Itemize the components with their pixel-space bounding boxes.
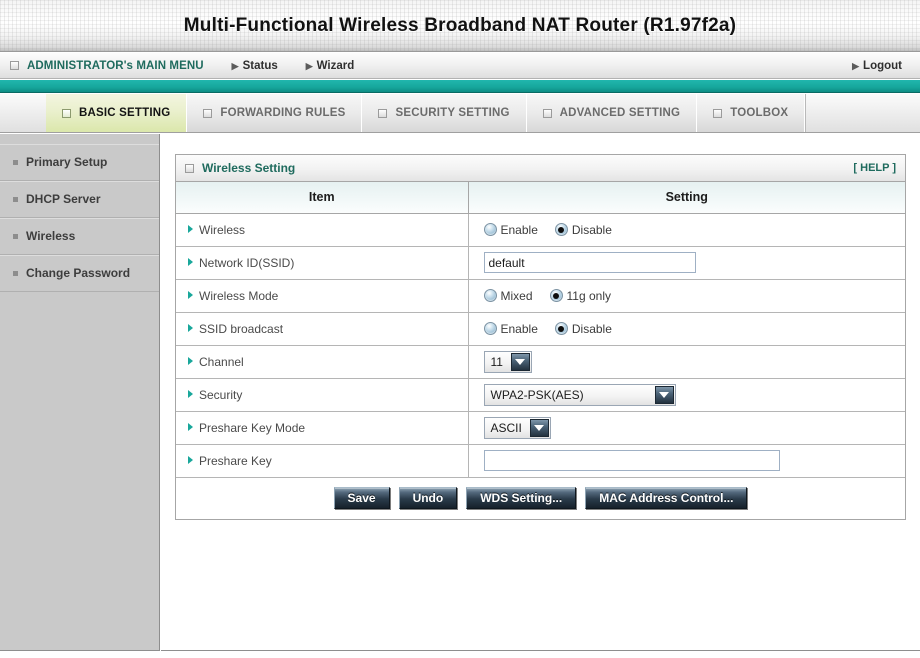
nav-link-wizard[interactable]: ▶Wizard: [306, 60, 355, 72]
admin-menu-label: ADMINISTRATOR's MAIN MENU: [27, 60, 204, 72]
sidebar-item-label: Wireless: [26, 229, 75, 243]
table-row: Network ID(SSID): [176, 246, 905, 279]
wireless-setting-panel: Wireless Setting [ HELP ] Item Setting W…: [175, 154, 906, 520]
triangle-right-icon: [188, 291, 193, 299]
nav-link-status[interactable]: ▶Status: [232, 60, 278, 72]
row-label-wireless-mode: Wireless Mode: [176, 279, 468, 312]
table-row: Security WPA2-PSK(AES): [176, 378, 905, 411]
ssid-input[interactable]: [484, 252, 696, 273]
row-value-preshare-key-mode: ASCII: [468, 411, 905, 444]
security-select-value: WPA2-PSK(AES): [485, 385, 655, 405]
row-value-preshare-key: [468, 444, 905, 477]
app-title-banner: Multi-Functional Wireless Broadband NAT …: [0, 0, 920, 52]
chevron-down-icon: [655, 386, 674, 404]
sidebar-item-label: Primary Setup: [26, 155, 107, 169]
preshare-key-input[interactable]: [484, 450, 780, 471]
square-icon: [713, 109, 722, 118]
radio-label: Disable: [572, 322, 612, 336]
row-value-network-id: [468, 246, 905, 279]
router-admin-page: Multi-Functional Wireless Broadband NAT …: [0, 0, 920, 658]
row-label-preshare-key: Preshare Key: [176, 444, 468, 477]
row-label-security: Security: [176, 378, 468, 411]
ssid-broadcast-radio-group: Enable Disable: [484, 322, 906, 336]
row-label-channel: Channel: [176, 345, 468, 378]
main-tab-strip: BASIC SETTING FORWARDING RULES SECURITY …: [0, 94, 920, 133]
table-row: SSID broadcast Enable Disable: [176, 312, 905, 345]
preshare-key-mode-select[interactable]: ASCII: [484, 417, 551, 439]
square-icon: [203, 109, 212, 118]
row-label-wireless: Wireless: [176, 213, 468, 246]
row-label-network-id: Network ID(SSID): [176, 246, 468, 279]
tab-advanced-setting[interactable]: ADVANCED SETTING: [527, 94, 698, 132]
square-icon: [185, 164, 194, 173]
column-header-setting: Setting: [468, 182, 905, 213]
chevron-down-icon: [511, 353, 530, 371]
sidebar-item-primary-setup[interactable]: Primary Setup: [0, 144, 159, 181]
logout-label: Logout: [863, 60, 902, 72]
table-row: Preshare Key: [176, 444, 905, 477]
row-label-text: Security: [199, 388, 242, 402]
radio-label: Enable: [501, 322, 538, 336]
row-label-text: Wireless: [199, 223, 245, 237]
bullet-icon: [13, 160, 18, 165]
tab-basic-setting-label: BASIC SETTING: [79, 107, 170, 119]
row-label-ssid-broadcast: SSID broadcast: [176, 312, 468, 345]
row-value-wireless: Enable Disable: [468, 213, 905, 246]
table-header-row: Item Setting: [176, 182, 905, 213]
main-content: Wireless Setting [ HELP ] Item Setting W…: [161, 134, 920, 651]
tab-security-setting[interactable]: SECURITY SETTING: [362, 94, 526, 132]
help-link[interactable]: [ HELP ]: [853, 162, 896, 174]
undo-button[interactable]: Undo: [399, 487, 458, 509]
row-label-text: Preshare Key: [199, 454, 272, 468]
sidebar-nav: Primary Setup DHCP Server Wireless Chang…: [0, 134, 160, 651]
table-row: Wireless Enable Disable: [176, 213, 905, 246]
radio-icon-selected: [550, 289, 563, 302]
radio-icon: [484, 289, 497, 302]
arrow-right-icon: ▶: [306, 61, 313, 71]
table-row: Wireless Mode Mixed 11g only: [176, 279, 905, 312]
triangle-right-icon: [188, 258, 193, 266]
preshare-key-mode-value: ASCII: [485, 418, 530, 438]
triangle-right-icon: [188, 357, 193, 365]
column-header-item: Item: [176, 182, 468, 213]
row-value-security: WPA2-PSK(AES): [468, 378, 905, 411]
chevron-down-icon: [530, 419, 549, 437]
mac-address-control-button[interactable]: MAC Address Control...: [585, 487, 747, 509]
row-label-text: Wireless Mode: [199, 289, 278, 303]
channel-select-value: 11: [485, 352, 511, 372]
wireless-radio-disable[interactable]: Disable: [555, 223, 612, 237]
square-icon: [378, 109, 387, 118]
radio-icon: [484, 223, 497, 236]
row-value-channel: 11: [468, 345, 905, 378]
triangle-right-icon: [188, 456, 193, 464]
triangle-right-icon: [188, 324, 193, 332]
sidebar-item-label: DHCP Server: [26, 192, 100, 206]
tab-security-setting-label: SECURITY SETTING: [395, 107, 509, 119]
table-row: Channel 11: [176, 345, 905, 378]
sidebar-item-dhcp-server[interactable]: DHCP Server: [0, 181, 159, 218]
wireless-radio-enable[interactable]: Enable: [484, 223, 538, 237]
panel-title: Wireless Setting: [202, 161, 295, 175]
table-row: Preshare Key Mode ASCII: [176, 411, 905, 444]
page-title: Multi-Functional Wireless Broadband NAT …: [184, 15, 736, 37]
row-value-wireless-mode: Mixed 11g only: [468, 279, 905, 312]
radio-label: 11g only: [567, 289, 611, 303]
tab-strip-filler: [805, 94, 920, 132]
triangle-right-icon: [188, 225, 193, 233]
wireless-mode-radio-group: Mixed 11g only: [484, 289, 906, 303]
square-icon: [62, 109, 71, 118]
channel-select[interactable]: 11: [484, 351, 532, 373]
row-label-preshare-key-mode: Preshare Key Mode: [176, 411, 468, 444]
square-icon: [543, 109, 552, 118]
tab-toolbox-label: TOOLBOX: [730, 107, 788, 119]
radio-label: Mixed: [501, 289, 533, 303]
triangle-right-icon: [188, 423, 193, 431]
admin-menu-bar: ADMINISTRATOR's MAIN MENU ▶Status ▶Wizar…: [0, 53, 920, 79]
tab-basic-setting[interactable]: BASIC SETTING: [46, 94, 187, 132]
tab-toolbox[interactable]: TOOLBOX: [697, 94, 805, 132]
security-select[interactable]: WPA2-PSK(AES): [484, 384, 676, 406]
radio-label: Enable: [501, 223, 538, 237]
wds-setting-button[interactable]: WDS Setting...: [466, 487, 576, 509]
row-label-text: SSID broadcast: [199, 322, 283, 336]
save-button[interactable]: Save: [334, 487, 390, 509]
radio-icon-selected: [555, 322, 568, 335]
ssid-broadcast-radio-disable[interactable]: Disable: [555, 322, 612, 336]
bullet-icon: [13, 271, 18, 276]
sidebar-item-label: Change Password: [26, 266, 130, 280]
panel-button-row: Save Undo WDS Setting... MAC Address Con…: [176, 478, 905, 519]
row-value-ssid-broadcast: Enable Disable: [468, 312, 905, 345]
panel-header: Wireless Setting [ HELP ]: [176, 155, 905, 182]
logout-link[interactable]: ▶Logout: [852, 60, 910, 72]
triangle-right-icon: [188, 390, 193, 398]
radio-label: Disable: [572, 223, 612, 237]
row-label-text: Channel: [199, 355, 244, 369]
wireless-radio-group: Enable Disable: [484, 223, 906, 237]
arrow-right-icon: ▶: [232, 61, 239, 71]
sidebar-item-wireless[interactable]: Wireless: [0, 218, 159, 255]
nav-link-status-label: Status: [243, 60, 278, 72]
tab-forwarding-rules-label: FORWARDING RULES: [220, 107, 345, 119]
bullet-icon: [13, 197, 18, 202]
nav-link-wizard-label: Wizard: [317, 60, 355, 72]
tab-advanced-setting-label: ADVANCED SETTING: [560, 107, 681, 119]
row-label-text: Preshare Key Mode: [199, 421, 305, 435]
row-label-text: Network ID(SSID): [199, 256, 294, 270]
tab-forwarding-rules[interactable]: FORWARDING RULES: [187, 94, 362, 132]
arrow-right-icon: ▶: [852, 61, 859, 71]
bullet-icon: [13, 234, 18, 239]
wireless-mode-radio-11g-only[interactable]: 11g only: [550, 289, 611, 303]
wireless-settings-table: Item Setting Wireless: [176, 182, 905, 478]
sidebar-item-change-password[interactable]: Change Password: [0, 255, 159, 292]
teal-accent-bar: [0, 80, 920, 93]
radio-icon: [484, 322, 497, 335]
ssid-broadcast-radio-enable[interactable]: Enable: [484, 322, 538, 336]
radio-icon-selected: [555, 223, 568, 236]
square-icon: [10, 61, 19, 70]
wireless-mode-radio-mixed[interactable]: Mixed: [484, 289, 533, 303]
